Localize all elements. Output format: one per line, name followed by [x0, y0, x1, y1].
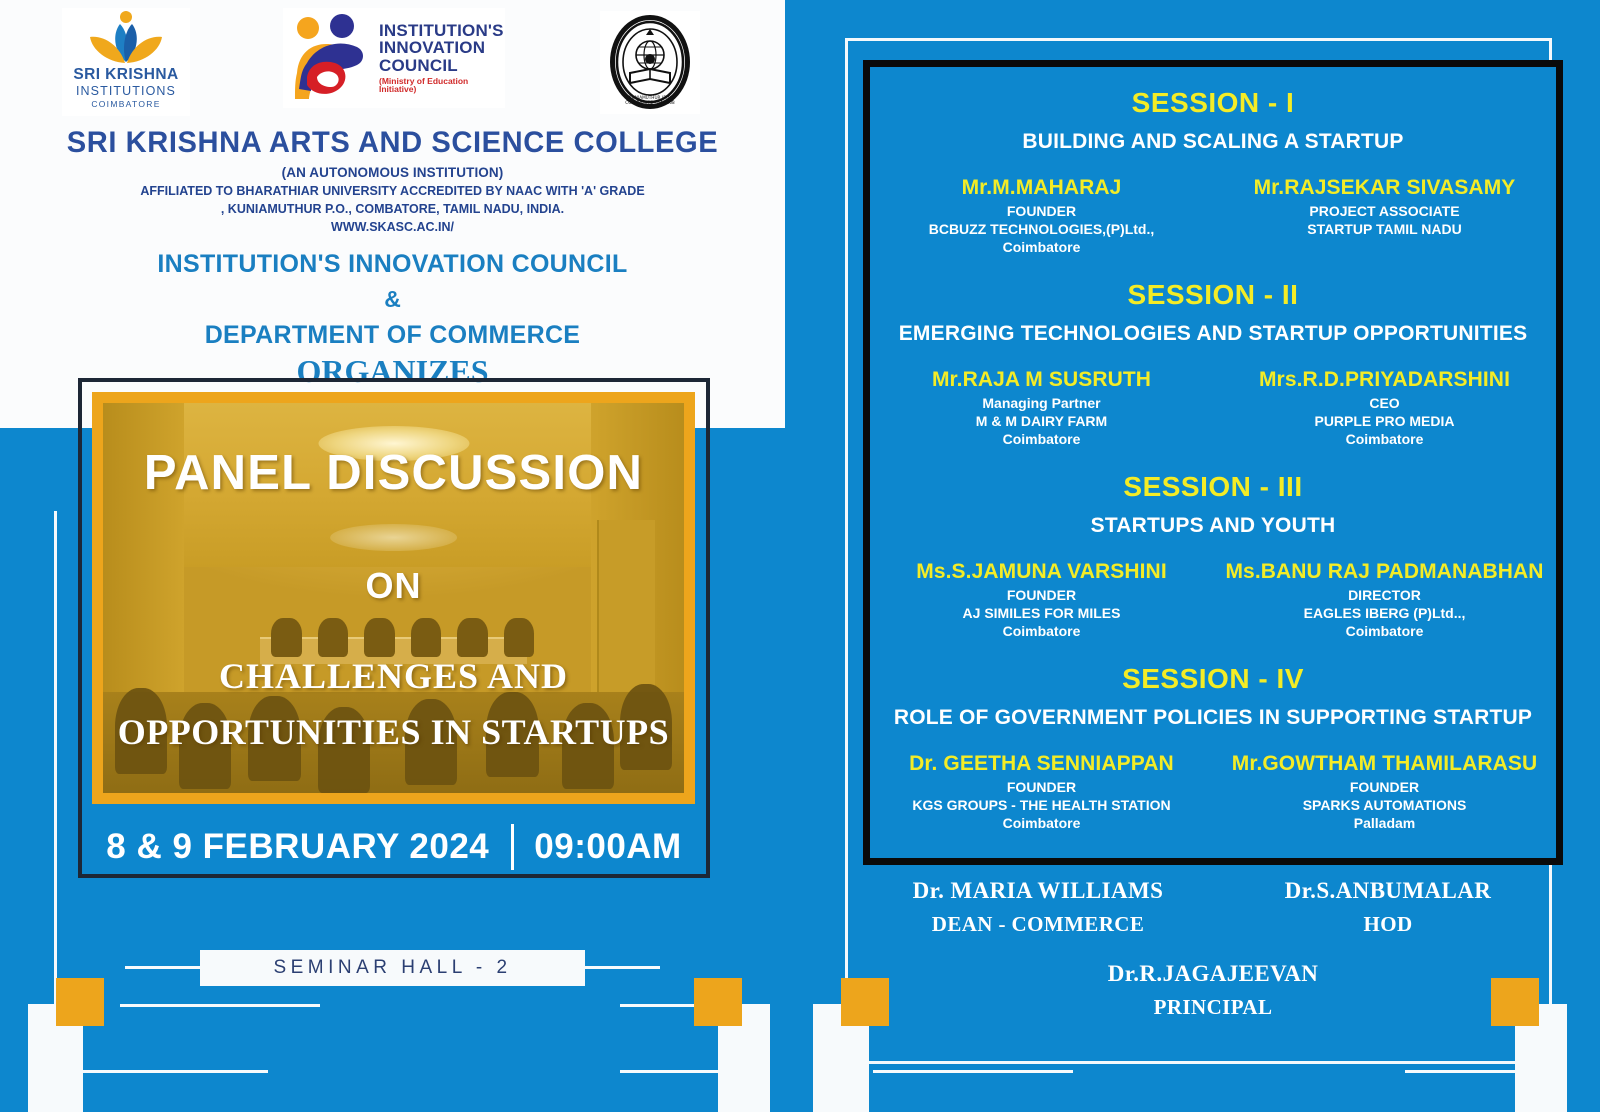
- speaker-city: Coimbatore: [870, 623, 1213, 639]
- ribbon-line-right: [585, 966, 660, 969]
- session-label: SESSION - II: [870, 279, 1556, 311]
- event-poster: SRI KRISHNA INSTITUTIONS COIMBATORE: [0, 0, 1600, 1112]
- session-label: SESSION - III: [870, 471, 1556, 503]
- iic-subtitle: (Ministry of Education Initiative): [379, 77, 505, 94]
- speaker-name: Ms.BANU RAJ PADMANABHAN: [1213, 560, 1556, 584]
- speaker-org: M & M DAIRY FARM: [870, 413, 1213, 429]
- decor-vertical-line-left: [54, 511, 57, 1053]
- session-speakers: Dr. GEETHA SENNIAPPAN FOUNDER KGS GROUPS…: [870, 752, 1556, 831]
- speaker-role: Managing Partner: [870, 395, 1213, 411]
- sessions-box: SESSION - I BUILDING AND SCALING A START…: [863, 60, 1563, 865]
- left-panel: SRI KRISHNA INSTITUTIONS COIMBATORE: [0, 0, 785, 1112]
- venue-label: SEMINAR HALL - 2: [273, 957, 511, 979]
- iic-line-3: COUNCIL: [379, 57, 505, 74]
- speaker-org: EAGLES IBERG (P)Ltd..,: [1213, 605, 1556, 621]
- iic-line-2: INNOVATION: [379, 39, 505, 56]
- session-block: SESSION - IV ROLE OF GOVERNMENT POLICIES…: [870, 663, 1556, 831]
- iic-figure-icon: [287, 11, 379, 103]
- speaker-city: Coimbatore: [870, 239, 1213, 255]
- session-block: SESSION - III STARTUPS AND YOUTH Ms.S.JA…: [870, 471, 1556, 639]
- speaker-role: PROJECT ASSOCIATE: [1213, 203, 1556, 219]
- speaker-card: Mrs.R.D.PRIYADARSHINI CEO PURPLE PRO MED…: [1213, 368, 1556, 447]
- session-topic: ROLE OF GOVERNMENT POLICIES IN SUPPORTIN…: [870, 706, 1556, 730]
- signatories-area: Dr. MARIA WILLIAMS DEAN - COMMERCE Dr.S.…: [863, 878, 1563, 1020]
- event-datetime-row: 8 & 9 FEBRUARY 2024 09:00AM: [78, 818, 710, 876]
- website-label: WWW.SKASC.AC.IN/: [0, 220, 785, 234]
- signatories-row: Dr. MARIA WILLIAMS DEAN - COMMERCE Dr.S.…: [863, 878, 1563, 937]
- logo-line-1: SRI KRISHNA: [62, 66, 190, 84]
- speaker-role: DIRECTOR: [1213, 587, 1556, 603]
- organizers-block: INSTITUTION'S INNOVATION COUNCIL & DEPAR…: [0, 250, 785, 390]
- event-time: 09:00AM: [534, 827, 681, 867]
- speaker-org: BCBUZZ TECHNOLOGIES,(P)Ltd.,: [870, 221, 1213, 237]
- speaker-org: STARTUP TAMIL NADU: [1213, 221, 1556, 237]
- speaker-name: Mr.RAJSEKAR SIVASAMY: [1213, 176, 1556, 200]
- session-topic: EMERGING TECHNOLOGIES AND STARTUP OPPORT…: [870, 322, 1556, 346]
- decor-hline-rbr: [1405, 1070, 1515, 1073]
- ampersand: &: [0, 286, 785, 313]
- speaker-card: Mr.RAJSEKAR SIVASAMY PROJECT ASSOCIATE S…: [1213, 176, 1556, 255]
- session-topic: STARTUPS AND YOUTH: [870, 514, 1556, 538]
- speaker-city: Coimbatore: [870, 431, 1213, 447]
- venue-ribbon: SEMINAR HALL - 2: [200, 950, 585, 986]
- lotus-icon: [62, 8, 190, 68]
- session-speakers: Ms.S.JAMUNA VARSHINI FOUNDER AJ SIMILES …: [870, 560, 1556, 639]
- signatory: Dr.S.ANBUMALAR HOD: [1213, 878, 1563, 937]
- organizer-department: DEPARTMENT OF COMMERCE: [0, 321, 785, 350]
- iic-logo-text: INSTITUTION'S INNOVATION COUNCIL (Minist…: [379, 22, 505, 94]
- speaker-card: Mr.RAJA M SUSRUTH Managing Partner M & M…: [870, 368, 1213, 447]
- autonomous-label: (AN AUTONOMOUS INSTITUTION): [0, 165, 785, 180]
- photo-overlay-text: PANEL DISCUSSION ON CHALLENGES AND OPPOR…: [103, 403, 684, 793]
- iic-line-1: INSTITUTION'S: [379, 22, 505, 39]
- signatory-name: Dr. MARIA WILLIAMS: [863, 878, 1213, 904]
- speaker-city: Palladam: [1213, 815, 1556, 831]
- logo-line-2: INSTITUTIONS: [62, 84, 190, 98]
- speaker-org: KGS GROUPS - THE HEALTH STATION: [870, 797, 1213, 813]
- event-photo-card: PANEL DISCUSSION ON CHALLENGES AND OPPOR…: [92, 392, 695, 804]
- speaker-card: Ms.S.JAMUNA VARSHINI FOUNDER AJ SIMILES …: [870, 560, 1213, 639]
- datetime-divider: [511, 824, 514, 870]
- panel-discussion-photo: PANEL DISCUSSION ON CHALLENGES AND OPPOR…: [103, 403, 684, 793]
- institutions-innovation-council-logo: INSTITUTION'S INNOVATION COUNCIL (Minist…: [283, 8, 505, 108]
- speaker-card: Dr. GEETHA SENNIAPPAN FOUNDER KGS GROUPS…: [870, 752, 1213, 831]
- signatory-role: HOD: [1213, 912, 1563, 937]
- organizer-iic: INSTITUTION'S INNOVATION COUNCIL: [0, 250, 785, 279]
- speaker-org: AJ SIMILES FOR MILES: [870, 605, 1213, 621]
- session-topic: BUILDING AND SCALING A STARTUP: [870, 130, 1556, 154]
- address-label: , KUNIAMUTHUR P.O., COMBATORE, TAMIL NAD…: [0, 202, 785, 216]
- event-title: PANEL DISCUSSION: [103, 445, 684, 501]
- ribbon-line-left: [125, 966, 200, 969]
- college-details: (AN AUTONOMOUS INSTITUTION) AFFILIATED T…: [0, 165, 785, 234]
- session-block: SESSION - I BUILDING AND SCALING A START…: [870, 87, 1556, 255]
- speaker-name: Ms.S.JAMUNA VARSHINI: [870, 560, 1213, 584]
- speaker-name: Mr.GOWTHAM THAMILARASU: [1213, 752, 1556, 776]
- sri-krishna-institutions-logo: SRI KRISHNA INSTITUTIONS COIMBATORE: [62, 8, 190, 116]
- speaker-role: CEO: [1213, 395, 1556, 411]
- speaker-role: FOUNDER: [870, 203, 1213, 219]
- right-panel: SESSION - I BUILDING AND SCALING A START…: [785, 0, 1600, 1112]
- speaker-city: Coimbatore: [1213, 623, 1556, 639]
- event-date: 8 & 9 FEBRUARY 2024: [106, 827, 489, 867]
- speaker-name: Mr.M.MAHARAJ: [870, 176, 1213, 200]
- session-speakers: Mr.M.MAHARAJ FOUNDER BCBUZZ TECHNOLOGIES…: [870, 176, 1556, 255]
- speaker-city: Coimbatore: [870, 815, 1213, 831]
- decor-yellow-br: [694, 978, 742, 1026]
- speaker-org: SPARKS AUTOMATIONS: [1213, 797, 1556, 813]
- speaker-card: Ms.BANU RAJ PADMANABHAN DIRECTOR EAGLES …: [1213, 560, 1556, 639]
- decor-hline-bl: [120, 1004, 320, 1007]
- session-label: SESSION - IV: [870, 663, 1556, 695]
- session-block: SESSION - II EMERGING TECHNOLOGIES AND S…: [870, 279, 1556, 447]
- event-on-label: ON: [103, 565, 684, 607]
- speaker-card: Mr.GOWTHAM THAMILARASU FOUNDER SPARKS AU…: [1213, 752, 1556, 831]
- speaker-role: FOUNDER: [870, 779, 1213, 795]
- session-speakers: Mr.RAJA M SUSRUTH Managing Partner M & M…: [870, 368, 1556, 447]
- speaker-city: Coimbatore: [1213, 431, 1556, 447]
- speaker-name: Dr. GEETHA SENNIAPPAN: [870, 752, 1213, 776]
- speaker-org: PURPLE PRO MEDIA: [1213, 413, 1556, 429]
- decor-hline-rbl: [873, 1070, 1073, 1073]
- principal-role: PRINCIPAL: [863, 995, 1563, 1020]
- event-subject-line-2: OPPORTUNITIES IN STARTUPS: [103, 711, 684, 753]
- header-white-block: SRI KRISHNA INSTITUTIONS COIMBATORE: [0, 0, 785, 428]
- logo-line-3: COIMBATORE: [62, 99, 190, 109]
- event-subject-line-1: CHALLENGES AND: [103, 655, 684, 697]
- signatory-name: Dr.S.ANBUMALAR: [1213, 878, 1563, 904]
- speaker-name: Mrs.R.D.PRIYADARSHINI: [1213, 368, 1556, 392]
- principal-signatory: Dr.R.JAGAJEEVAN PRINCIPAL: [863, 961, 1563, 1020]
- college-name: SRI KRISHNA ARTS AND SCIENCE COLLEGE: [12, 126, 773, 160]
- signatory: Dr. MARIA WILLIAMS DEAN - COMMERCE: [863, 878, 1213, 937]
- speaker-role: FOUNDER: [870, 587, 1213, 603]
- affiliation-label: AFFILIATED TO BHARATHIAR UNIVERSITY ACCR…: [0, 184, 785, 198]
- decor-yellow-bl: [56, 978, 104, 1026]
- sri-krishna-logo-text: SRI KRISHNA INSTITUTIONS COIMBATORE: [62, 66, 190, 109]
- svg-text:COIMBATORE - 641 008: COIMBATORE - 641 008: [625, 100, 675, 105]
- speaker-card: Mr.M.MAHARAJ FOUNDER BCBUZZ TECHNOLOGIES…: [870, 176, 1213, 255]
- speaker-name: Mr.RAJA M SUSRUTH: [870, 368, 1213, 392]
- seal-icon: KUNIAMUTHUR (PO) COIMBATORE - 641 008: [600, 11, 700, 114]
- session-label: SESSION - I: [870, 87, 1556, 119]
- college-seal-logo: KUNIAMUTHUR (PO) COIMBATORE - 641 008: [600, 11, 700, 114]
- signatory-role: DEAN - COMMERCE: [863, 912, 1213, 937]
- principal-name: Dr.R.JAGAJEEVAN: [863, 961, 1563, 987]
- speaker-role: FOUNDER: [1213, 779, 1556, 795]
- logo-row: SRI KRISHNA INSTITUTIONS COIMBATORE: [0, 0, 785, 120]
